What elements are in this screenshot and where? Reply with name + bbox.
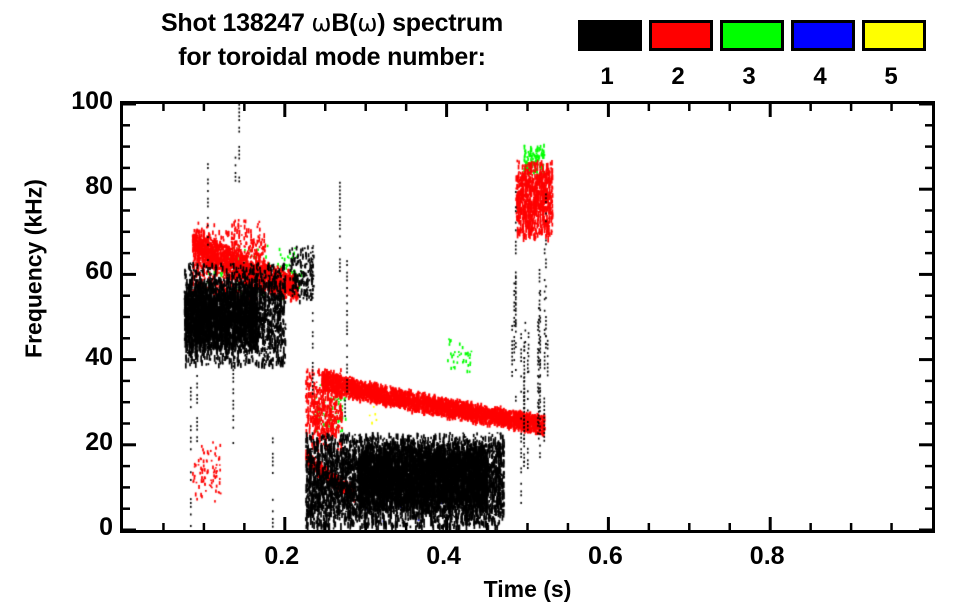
title-line-1: Shot 138247 ωB(ω) spectrum: [92, 6, 572, 40]
title-b-open: B(: [331, 9, 357, 37]
y-tick-0: 0: [43, 515, 113, 540]
y-tick-20: 20: [43, 430, 113, 455]
x-tick-0.4: 0.4: [399, 542, 489, 570]
x-tick-0.2: 0.2: [237, 542, 327, 570]
legend-swatch-4: [791, 20, 855, 51]
x-tick-0.8: 0.8: [722, 542, 812, 570]
plot-area: [120, 101, 935, 533]
figure-title: Shot 138247 ωB(ω) spectrum for toroidal …: [92, 6, 572, 74]
spectrogram-figure: Shot 138247 ωB(ω) spectrum for toroidal …: [0, 0, 963, 615]
title-line-2: for toroidal mode number:: [92, 40, 572, 74]
x-axis-title: Time (s): [120, 576, 935, 603]
legend-label-5: 5: [859, 62, 923, 92]
legend-swatch-3: [720, 20, 784, 51]
legend-label-4: 4: [788, 62, 852, 92]
legend-label-1: 1: [575, 62, 639, 92]
y-axis-title: Frequency (kHz): [21, 149, 48, 389]
legend-label-2: 2: [646, 62, 710, 92]
y-tick-60: 60: [43, 259, 113, 284]
legend: 12345: [578, 10, 928, 92]
x-axis-tick-labels: 0.20.40.60.8: [120, 542, 935, 574]
legend-swatch-5: [862, 20, 926, 51]
omega-symbol-1: ω: [311, 9, 331, 37]
legend-label-3: 3: [717, 62, 781, 92]
x-tick-0.6: 0.6: [560, 542, 650, 570]
omega-symbol-2: ω: [357, 9, 377, 37]
spectrogram-canvas: [123, 104, 932, 530]
title-shot-text: Shot 138247: [161, 9, 311, 37]
legend-swatch-1: [578, 20, 642, 51]
y-tick-80: 80: [43, 174, 113, 199]
legend-swatch-2: [649, 20, 713, 51]
title-spectrum-text: ) spectrum: [377, 9, 503, 37]
y-tick-100: 100: [43, 89, 113, 114]
y-tick-40: 40: [43, 345, 113, 370]
